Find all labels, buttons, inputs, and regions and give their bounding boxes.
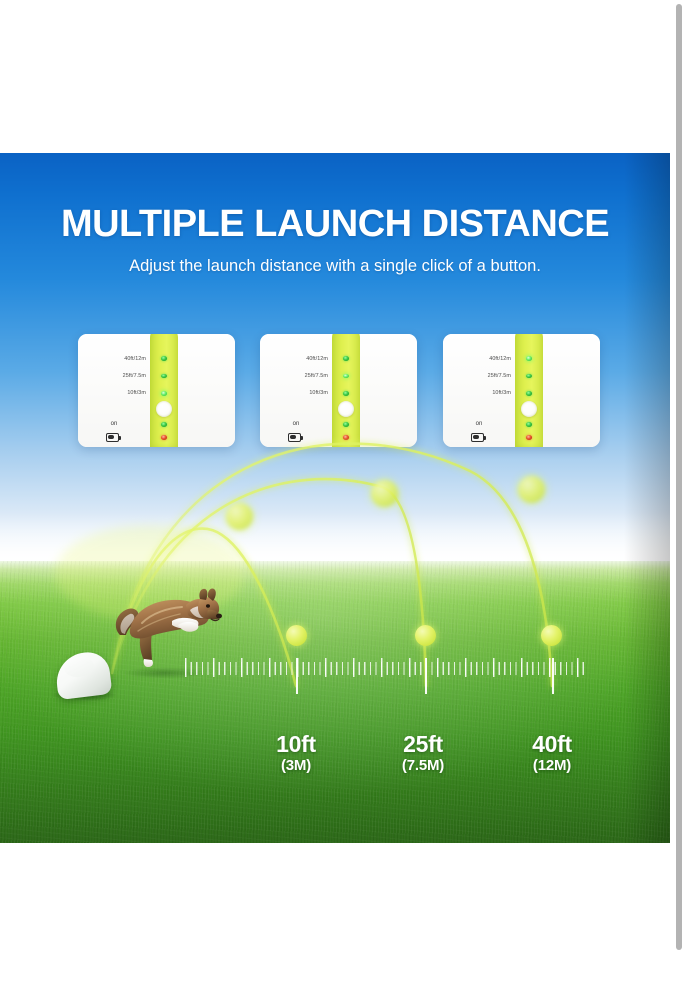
panel2-led-40ft [343, 356, 349, 361]
ball-apex-10ft [226, 503, 253, 530]
panel3-led-battery [526, 435, 532, 440]
panel2-led-battery [343, 435, 349, 440]
distance-feet-10ft: 10ft [236, 733, 356, 756]
panel1-label-40ft: 40ft/12m [82, 357, 146, 362]
panel3-led-10ft [526, 391, 532, 396]
panel1-led-10ft [161, 391, 167, 396]
control-panel-card-40ft[interactable]: 40ft/12m 25ft/7.5m 10ft/3m on [443, 334, 600, 447]
panel1-label-10ft: 10ft/3m [82, 391, 146, 396]
hero-banner: MULTIPLE LAUNCH DISTANCE Adjust the laun… [0, 153, 670, 843]
panel1-led-power [161, 422, 167, 427]
distance-feet-25ft: 25ft [363, 733, 483, 756]
panel2-mode-button[interactable] [338, 401, 354, 417]
card-surface: 40ft/12m 25ft/7.5m 10ft/3m on [443, 334, 600, 447]
page-scroll-container: MULTIPLE LAUNCH DISTANCE Adjust the laun… [0, 0, 670, 1000]
ruler-mark-40ft [552, 658, 554, 694]
distance-ruler [185, 658, 585, 680]
ball-landing-25ft [415, 625, 436, 646]
panel3-led-40ft [526, 356, 532, 361]
panel2-label-power: on [264, 421, 328, 427]
panel3-label-25ft: 25ft/7.5m [447, 374, 511, 379]
panel3-mode-button[interactable] [521, 401, 537, 417]
panel1-label-25ft: 25ft/7.5m [82, 374, 146, 379]
scrollbar-thumb[interactable] [676, 4, 682, 950]
banner-edge-shading [624, 153, 670, 843]
distance-label-25ft: 25ft (7.5M) [363, 733, 483, 776]
ball-landing-10ft [286, 625, 307, 646]
page-subtitle: Adjust the launch distance with a single… [0, 258, 670, 275]
panel3-label-power: on [447, 421, 511, 427]
panel1-led-battery [161, 435, 167, 440]
panel2-led-10ft [343, 391, 349, 396]
page-title: MULTIPLE LAUNCH DISTANCE [0, 205, 670, 243]
control-panel-card-10ft[interactable]: 40ft/12m 25ft/7.5m 10ft/3m on [78, 334, 235, 447]
scrollbar-track[interactable] [670, 0, 688, 1000]
distance-feet-40ft: 40ft [492, 733, 612, 756]
panel2-label-10ft: 10ft/3m [264, 391, 328, 396]
ball-launcher [56, 649, 112, 697]
ruler-major-ticks [185, 658, 585, 677]
distance-meters-10ft: (3M) [236, 756, 356, 776]
panel1-led-25ft [161, 374, 167, 379]
distance-label-10ft: 10ft (3M) [236, 733, 356, 776]
panel2-led-power [343, 422, 349, 427]
panel2-led-25ft [343, 374, 349, 379]
battery-icon [288, 433, 304, 442]
ball-apex-40ft [518, 476, 545, 503]
panel3-led-25ft [526, 374, 532, 379]
card-surface: 40ft/12m 25ft/7.5m 10ft/3m on [78, 334, 235, 447]
panel1-label-power: on [82, 421, 146, 427]
ruler-mark-10ft [296, 658, 298, 694]
ball-apex-25ft [371, 480, 398, 507]
ball-landing-40ft [541, 625, 562, 646]
battery-icon [471, 433, 487, 442]
panel3-label-10ft: 10ft/3m [447, 391, 511, 396]
distance-meters-25ft: (7.5M) [363, 756, 483, 776]
battery-icon [106, 433, 122, 442]
control-panel-card-25ft[interactable]: 40ft/12m 25ft/7.5m 10ft/3m on [260, 334, 417, 447]
panel2-label-40ft: 40ft/12m [264, 357, 328, 362]
panel3-label-40ft: 40ft/12m [447, 357, 511, 362]
panel3-led-power [526, 422, 532, 427]
distance-meters-40ft: (12M) [492, 756, 612, 776]
grass-field [0, 561, 670, 843]
panel1-mode-button[interactable] [156, 401, 172, 417]
panel1-led-40ft [161, 356, 167, 361]
grass-highlight [0, 561, 670, 843]
card-surface: 40ft/12m 25ft/7.5m 10ft/3m on [260, 334, 417, 447]
panel2-label-25ft: 25ft/7.5m [264, 374, 328, 379]
distance-label-40ft: 40ft (12M) [492, 733, 612, 776]
ruler-mark-25ft [425, 658, 427, 694]
